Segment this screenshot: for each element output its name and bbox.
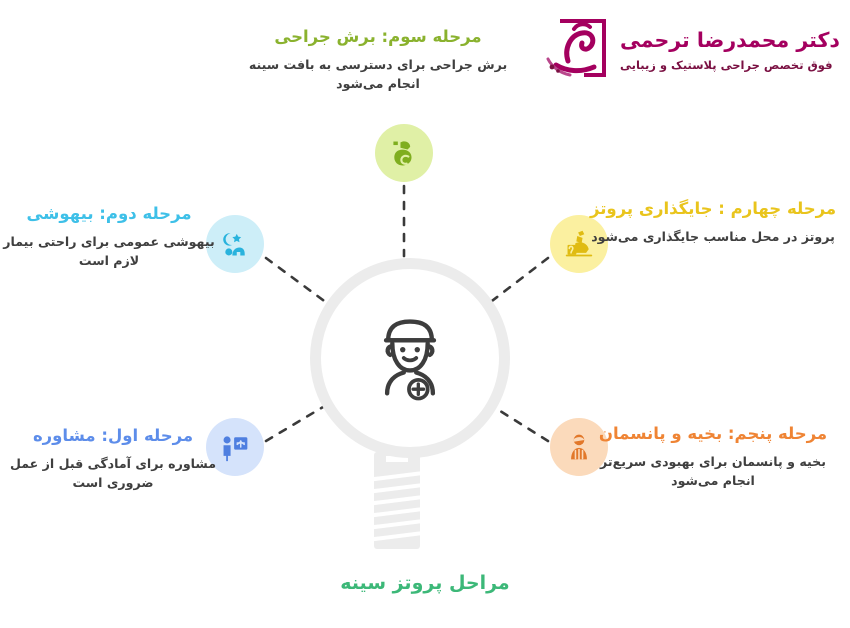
doctor-icon bbox=[358, 306, 462, 410]
step-title-5: مرحله پنجم: بخیه و پانسمان bbox=[599, 423, 827, 446]
footer-title: مراحل پروتز سینه bbox=[0, 572, 850, 594]
scalpel-incision-icon bbox=[389, 138, 419, 168]
step-desc-5: بخیه و پانسمان برای بهبودی سریع‌تر انجام… bbox=[584, 452, 842, 491]
step-node-3[interactable] bbox=[375, 124, 433, 182]
magnifier-handle bbox=[374, 452, 420, 549]
step-text-1: مرحله اول: مشاوره مشاوره برای آمادگی قبل… bbox=[8, 425, 218, 493]
step-desc-1: مشاوره برای آمادگی قبل از عمل ضروری است bbox=[8, 454, 218, 493]
step-text-3: مرحله سوم: برش جراحی برش جراحی برای دستر… bbox=[238, 26, 518, 94]
step-text-5: مرحله پنجم: بخیه و پانسمان بخیه و پانسما… bbox=[584, 423, 842, 491]
step-title-2: مرحله دوم: بیهوشی bbox=[26, 203, 191, 226]
brand-logo: دکتر محمدرضا ترحمی فوق تخصص جراحی پلاستی… bbox=[538, 12, 838, 88]
step-text-4: مرحله چهارم : جایگذاری پروتز پروتز در مح… bbox=[584, 198, 842, 246]
anesthesia-icon bbox=[220, 229, 250, 259]
brand-mark-icon bbox=[538, 15, 612, 85]
step-text-2: مرحله دوم: بیهوشی بیهوشی عمومی برای راحت… bbox=[0, 203, 218, 271]
step-desc-2: بیهوشی عمومی برای راحتی بیمار لازم است bbox=[0, 232, 218, 271]
brand-name: دکتر محمدرضا ترحمی bbox=[620, 28, 840, 54]
consultation-icon bbox=[220, 432, 250, 462]
step-desc-4: پروتز در محل مناسب جایگذاری می‌شود bbox=[591, 227, 835, 247]
step-title-4: مرحله چهارم : جایگذاری پروتز bbox=[590, 198, 836, 221]
step-title-3: مرحله سوم: برش جراحی bbox=[274, 26, 481, 49]
magnifier-lens bbox=[310, 258, 510, 458]
step-title-1: مرحله اول: مشاوره bbox=[33, 425, 193, 448]
infographic-canvas: دکتر محمدرضا ترحمی فوق تخصص جراحی پلاستی… bbox=[0, 0, 850, 628]
step-desc-3: برش جراحی برای دسترسی به بافت سینه انجام… bbox=[238, 55, 518, 94]
brand-text-block: دکتر محمدرضا ترحمی فوق تخصص جراحی پلاستی… bbox=[620, 28, 840, 72]
brand-subtitle: فوق تخصص جراحی پلاستیک و زیبایی bbox=[620, 58, 833, 72]
